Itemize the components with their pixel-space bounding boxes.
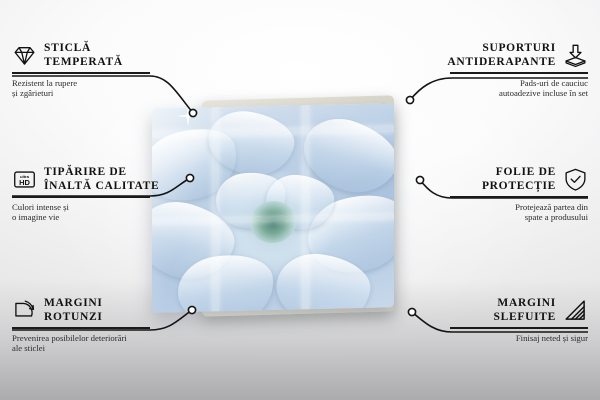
feature-title: FOLIE DE PROTECȚIE [482, 166, 556, 193]
svg-text:HD: HD [19, 178, 30, 187]
feature-title-line1: MARGINI [44, 297, 103, 311]
feature-header: MARGINI ROTUNZI [12, 297, 222, 324]
feature-header: STICLĂ TEMPERATĂ [12, 42, 222, 69]
feature-title: MARGINI SLEFUITE [494, 297, 556, 324]
feature-sticla-temperata[interactable]: STICLĂ TEMPERATĂ Rezistent la rupere și … [12, 42, 222, 99]
feature-description: Prevenirea posibilelor deteriorări ale s… [12, 333, 222, 354]
feature-description: Rezistent la rupere și zgârieturi [12, 78, 222, 99]
feature-title-line1: FOLIE DE [482, 166, 556, 180]
succulent-core [250, 201, 296, 244]
feature-title: TIPĂRIRE DE ÎNALTĂ CALITATE [44, 166, 159, 193]
feature-suporturi-antiderapante[interactable]: SUPORTURI ANTIDERAPANTE Pads-uri de cauc… [378, 42, 588, 99]
feature-divider [450, 196, 588, 198]
feature-divider [12, 327, 150, 329]
feature-header: ultra HD TIPĂRIRE DE ÎNALTĂ CALITATE [12, 166, 222, 193]
shield-check-icon [563, 167, 588, 192]
rounded-corner-icon [12, 298, 37, 323]
feature-title-line1: SUPORTURI [447, 42, 556, 56]
hatched-triangle-icon [563, 298, 588, 323]
feature-title-line1: TIPĂRIRE DE [44, 166, 159, 180]
feature-divider [12, 72, 150, 74]
feature-margini-slefuite[interactable]: MARGINI SLEFUITE Finisaj neted și sigur [378, 297, 588, 343]
feature-title-line2: ÎNALTĂ CALITATE [44, 180, 159, 194]
feature-margini-rotunzi[interactable]: MARGINI ROTUNZI Prevenirea posibilelor d… [12, 297, 222, 354]
feature-title: MARGINI ROTUNZI [44, 297, 103, 324]
feature-divider [450, 327, 588, 329]
infographic-canvas: STICLĂ TEMPERATĂ Rezistent la rupere și … [0, 0, 600, 400]
feature-divider [450, 72, 588, 74]
feature-folie-de-protectie[interactable]: FOLIE DE PROTECȚIE Protejează partea din… [378, 166, 588, 223]
feature-divider [12, 196, 150, 198]
feature-title-line2: ROTUNZI [44, 311, 103, 325]
feature-description: Culori intense și o imagine vie [12, 202, 222, 223]
feature-title-line1: MARGINI [494, 297, 556, 311]
feature-description: Pads-uri de cauciuc autoadezive incluse … [378, 78, 588, 99]
feature-title-line2: ANTIDERAPANTE [447, 56, 556, 70]
feature-header: FOLIE DE PROTECȚIE [378, 166, 588, 193]
feature-description: Finisaj neted și sigur [378, 333, 588, 344]
feature-description: Protejează partea din spate a produsului [378, 202, 588, 223]
feature-title-line2: PROTECȚIE [482, 180, 556, 194]
feature-title-line2: TEMPERATĂ [44, 56, 123, 70]
feature-header: SUPORTURI ANTIDERAPANTE [378, 42, 588, 69]
feature-title: SUPORTURI ANTIDERAPANTE [447, 42, 556, 69]
feature-title-line1: STICLĂ [44, 42, 123, 56]
diamond-icon [12, 43, 37, 68]
ultra-hd-badge-icon: ultra HD [12, 167, 37, 192]
feature-title-line2: SLEFUITE [494, 311, 556, 325]
anti-slip-pads-icon [563, 43, 588, 68]
feature-title: STICLĂ TEMPERATĂ [44, 42, 123, 69]
feature-tiparire-inalta-calitate[interactable]: ultra HD TIPĂRIRE DE ÎNALTĂ CALITATE Cul… [12, 166, 222, 223]
feature-header: MARGINI SLEFUITE [378, 297, 588, 324]
